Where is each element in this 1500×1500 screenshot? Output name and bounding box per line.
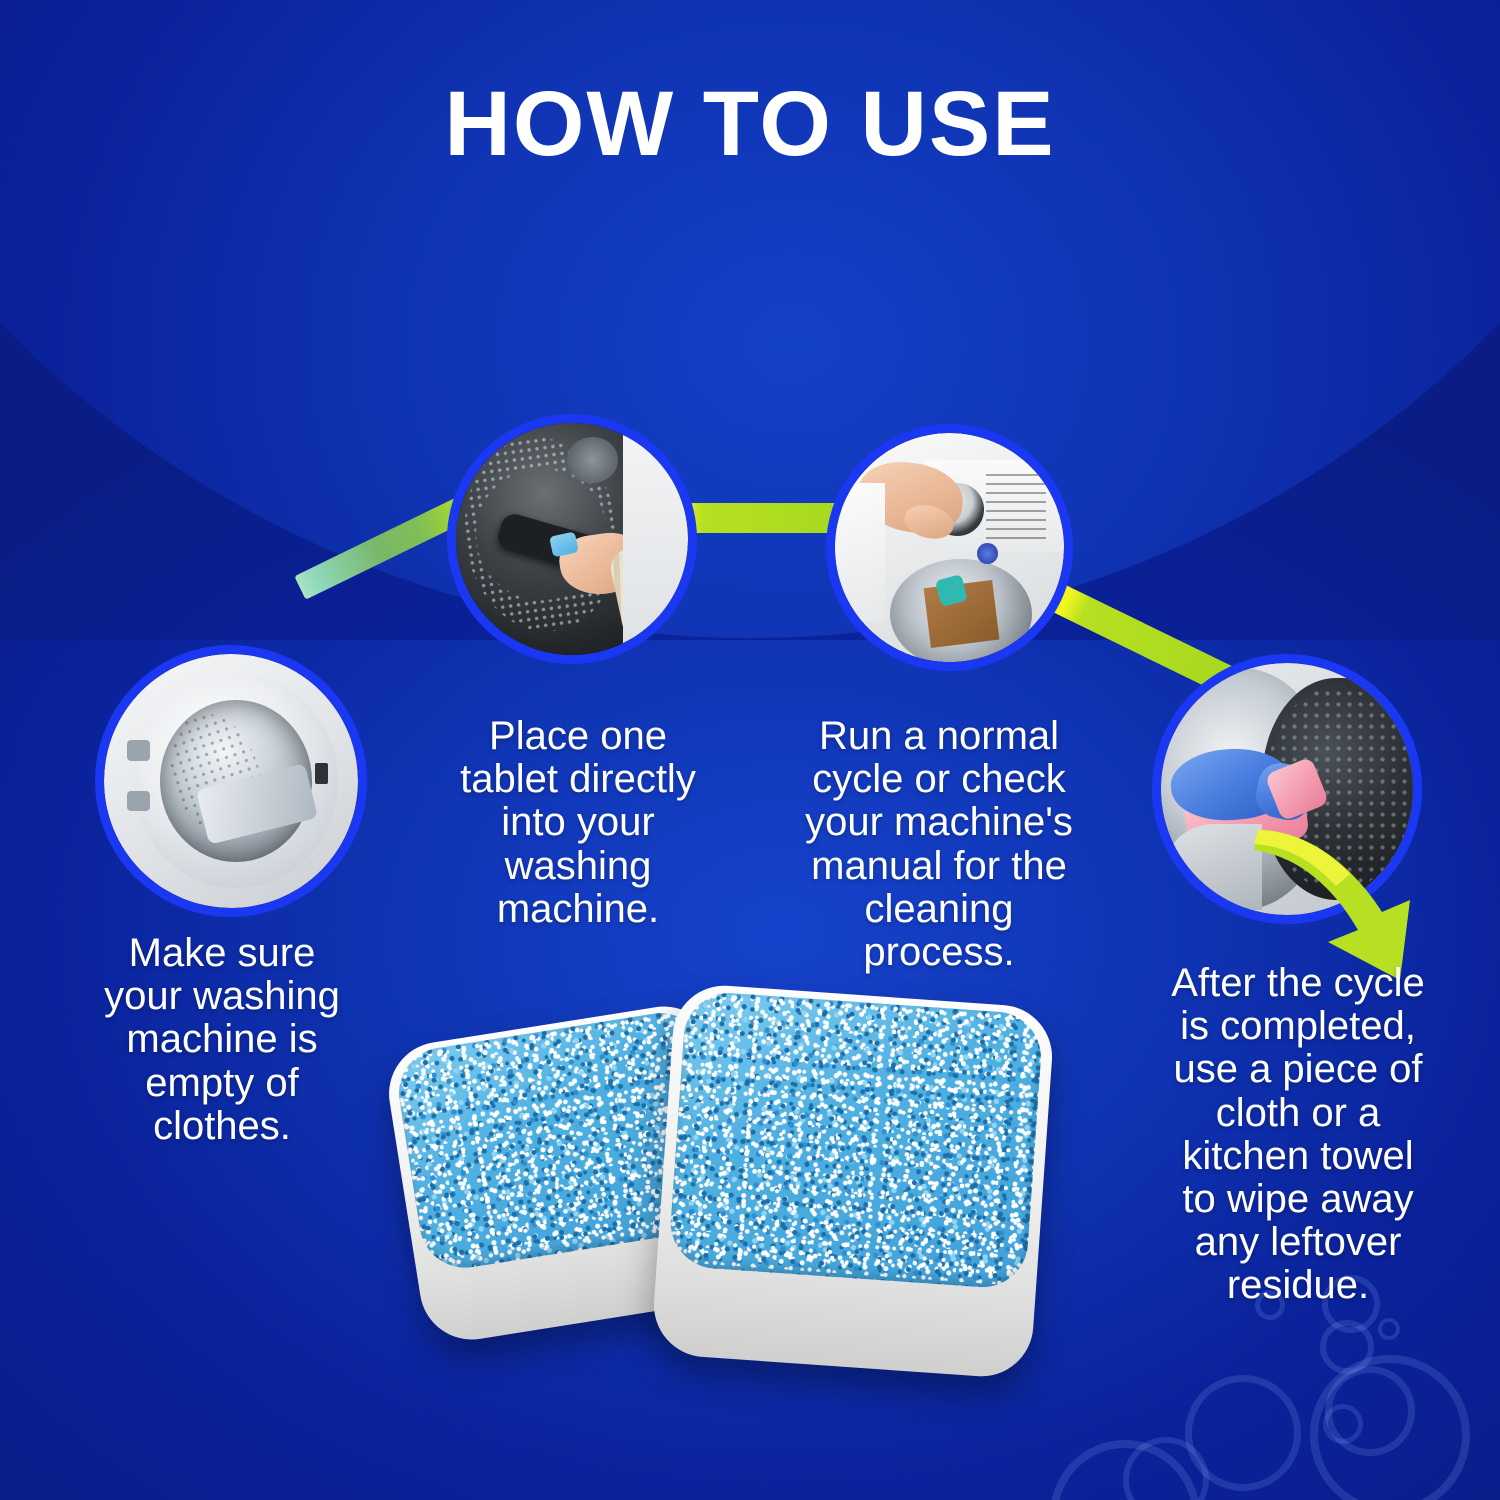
bubble-decoration xyxy=(1325,1366,1415,1456)
tablet-speckled-top xyxy=(668,990,1044,1290)
panel-labels xyxy=(986,474,1046,543)
step-circle-3[interactable] xyxy=(826,424,1073,671)
effervescent-cleaning-tablets xyxy=(395,985,1095,1415)
washer-left-edge xyxy=(835,483,885,620)
door-lower-rim xyxy=(1166,824,1262,910)
infographic-poster: HOW TO USE xyxy=(0,0,1500,1500)
door-latch xyxy=(315,763,328,783)
bubble-decoration xyxy=(1378,1318,1400,1340)
open-front-load-washer-photo xyxy=(104,654,358,908)
step-caption-4: After the cycle is completed, use a piec… xyxy=(1118,962,1478,1308)
step-circle-1[interactable] xyxy=(95,645,367,917)
step-caption-3: Run a normal cycle or check your machine… xyxy=(770,715,1108,974)
hand-placing-tablet-photo xyxy=(456,423,688,655)
step-caption-1: Make sure your washing machine is empty … xyxy=(48,932,396,1148)
step-caption-2: Place one tablet directly into your wash… xyxy=(418,715,738,931)
door-hinge-top xyxy=(127,740,150,760)
washer-door-edge xyxy=(623,428,688,651)
step-circle-2[interactable] xyxy=(447,414,697,664)
door-hinge-bottom xyxy=(127,791,150,811)
power-indicator xyxy=(977,543,998,564)
page-title: HOW TO USE xyxy=(0,78,1500,170)
hand-turning-dial-photo xyxy=(835,433,1064,662)
tablet-front xyxy=(650,982,1055,1380)
